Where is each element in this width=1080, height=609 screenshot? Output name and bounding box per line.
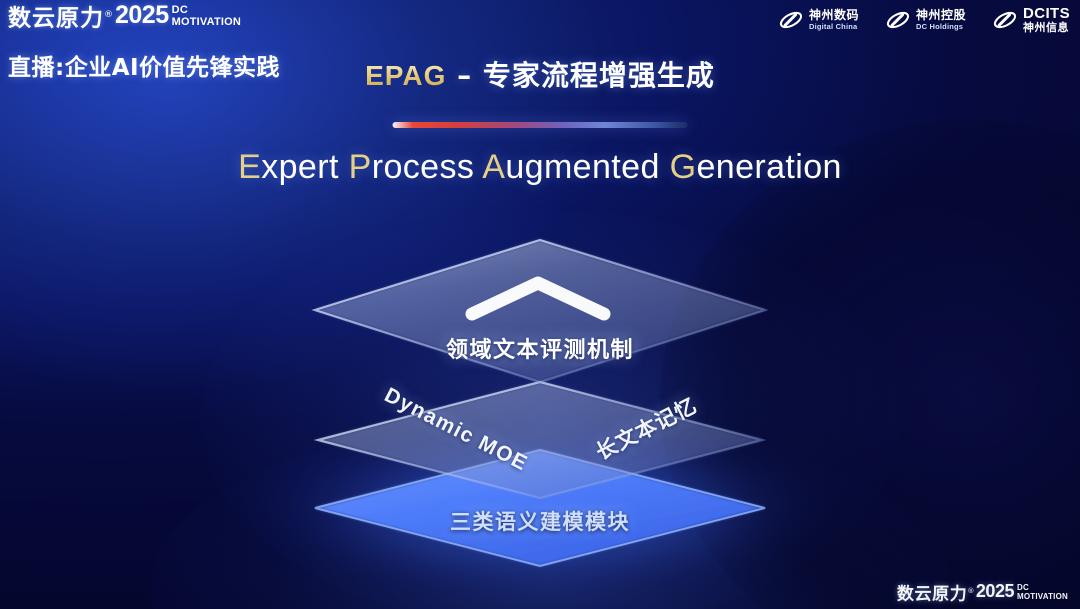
subtitle-word-augmented: ugmented xyxy=(505,148,669,186)
partner-text: DCITS 神州信息 xyxy=(1023,6,1070,33)
partner-name-cn: 神州控股 xyxy=(916,9,966,22)
brand-year: 2025 xyxy=(115,2,169,28)
watermark-dc: DC xyxy=(1017,584,1068,592)
watermark-dc-motivation: DC MOTIVATION xyxy=(1017,582,1068,601)
brand-motivation: MOTIVATION xyxy=(172,17,241,28)
slide-canvas: 数云原力® 2025 DC MOTIVATION 直播:企业AI价值先锋实践 神… xyxy=(0,0,1080,609)
subtitle-word-process: rocess xyxy=(372,148,483,186)
partner-name-en: DCITS xyxy=(1023,6,1070,22)
layer-label-top: 领域文本评测机制 xyxy=(446,332,634,364)
brand-name-cn: 数云原力® xyxy=(8,2,114,32)
subtitle-initial-p: P xyxy=(349,148,372,186)
live-banner-label: 直播:企业AI价值先锋实践 xyxy=(8,48,280,82)
swirl-logo-icon xyxy=(885,9,911,31)
glow-center xyxy=(200,210,900,609)
registered-mark: ® xyxy=(967,587,975,595)
partner-name-cn: 神州数码 xyxy=(809,9,859,22)
brand-logo: 数云原力® 2025 DC MOTIVATION xyxy=(8,2,241,32)
title-acronym: EPAG xyxy=(365,60,446,91)
watermark-name-cn: 数云原力® xyxy=(897,582,975,605)
partner-logo-dcits: DCITS 神州信息 xyxy=(992,6,1070,33)
partner-logo-digital-china: 神州数码 Digital China xyxy=(778,9,859,31)
title-chinese: 专家流程增强生成 xyxy=(483,59,715,92)
partner-logo-group: 神州数码 Digital China 神州控股 DC Holdings DCIT… xyxy=(778,6,1070,33)
brand-dc: DC xyxy=(172,5,241,16)
swirl-logo-icon xyxy=(778,9,804,31)
partner-name-cn: 神州信息 xyxy=(1023,22,1070,34)
partner-text: 神州数码 Digital China xyxy=(809,9,859,30)
layer-label-long-memory: 长文本记忆 xyxy=(590,390,702,467)
title-divider-bar xyxy=(393,122,688,128)
subtitle-initial-e: E xyxy=(238,148,261,186)
watermark-motivation: MOTIVATION xyxy=(1017,593,1068,601)
chevron-up-icon xyxy=(472,283,604,314)
registered-mark: ® xyxy=(104,10,114,20)
subtitle-initial-g: G xyxy=(670,148,697,186)
subtitle: Expert Process Augmented Generation xyxy=(0,148,1080,187)
glow-right-dark xyxy=(660,120,1080,609)
subtitle-word-expert: xpert xyxy=(261,148,348,186)
layer-label-dynamic-moe: Dynamic MOE xyxy=(380,384,531,477)
partner-name-en: DC Holdings xyxy=(916,23,966,31)
partner-name-en: Digital China xyxy=(809,23,859,31)
brand-dc-motivation: DC MOTIVATION xyxy=(172,2,241,28)
footer-watermark-logo: 数云原力® 2025 DC MOTIVATION xyxy=(897,582,1068,605)
partner-logo-dc-holdings: 神州控股 DC Holdings xyxy=(885,9,966,31)
layer-label-bottom: 三类语义建模模块 xyxy=(450,506,630,536)
watermark-year: 2025 xyxy=(976,582,1014,601)
subtitle-initial-a: A xyxy=(482,148,505,186)
title-separator: – xyxy=(446,59,483,92)
subtitle-word-generation: eneration xyxy=(696,148,841,186)
partner-text: 神州控股 DC Holdings xyxy=(916,9,966,30)
swirl-logo-icon xyxy=(992,9,1018,31)
